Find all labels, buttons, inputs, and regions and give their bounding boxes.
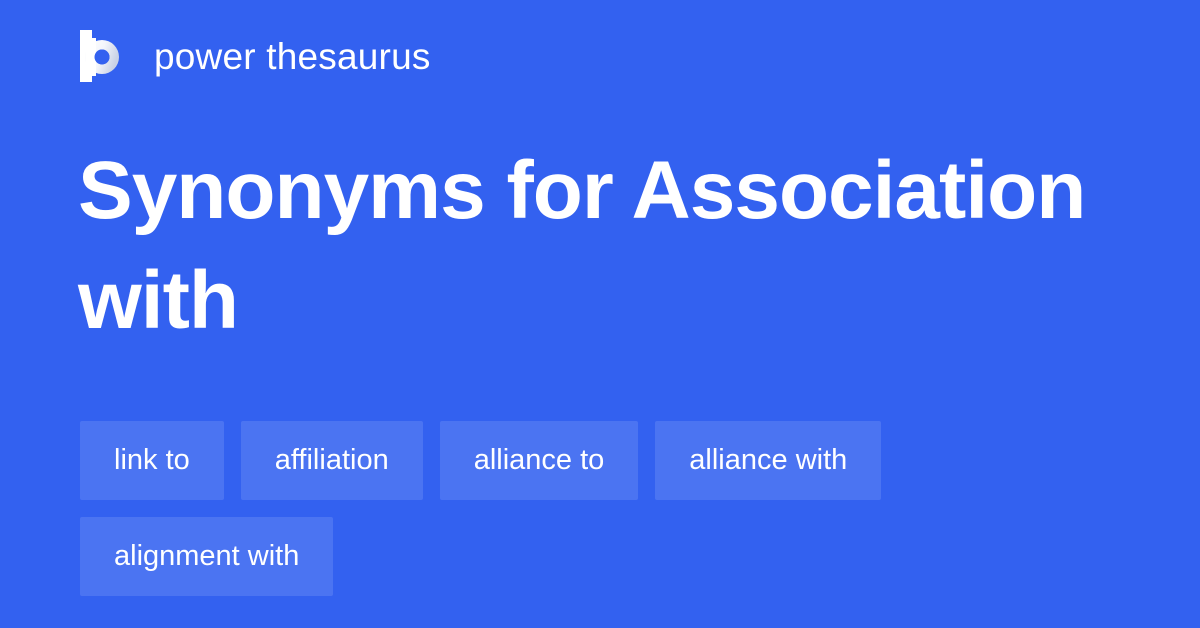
synonym-chip[interactable]: affiliation [241,421,423,500]
synonym-chip[interactable]: alliance with [655,421,881,500]
synonym-chip-list: link to affiliation alliance to alliance… [80,421,1140,596]
synonym-chip[interactable]: alignment with [80,517,333,596]
share-card: power thesaurus Synonyms for Association… [0,0,1200,628]
page-title: Synonyms for Association with [78,136,1128,356]
synonym-chip[interactable]: alliance to [440,421,639,500]
power-thesaurus-b-logo-icon [80,30,128,82]
brand-header[interactable]: power thesaurus [80,28,431,84]
synonym-chip[interactable]: link to [80,421,224,500]
brand-name: power thesaurus [154,38,431,75]
